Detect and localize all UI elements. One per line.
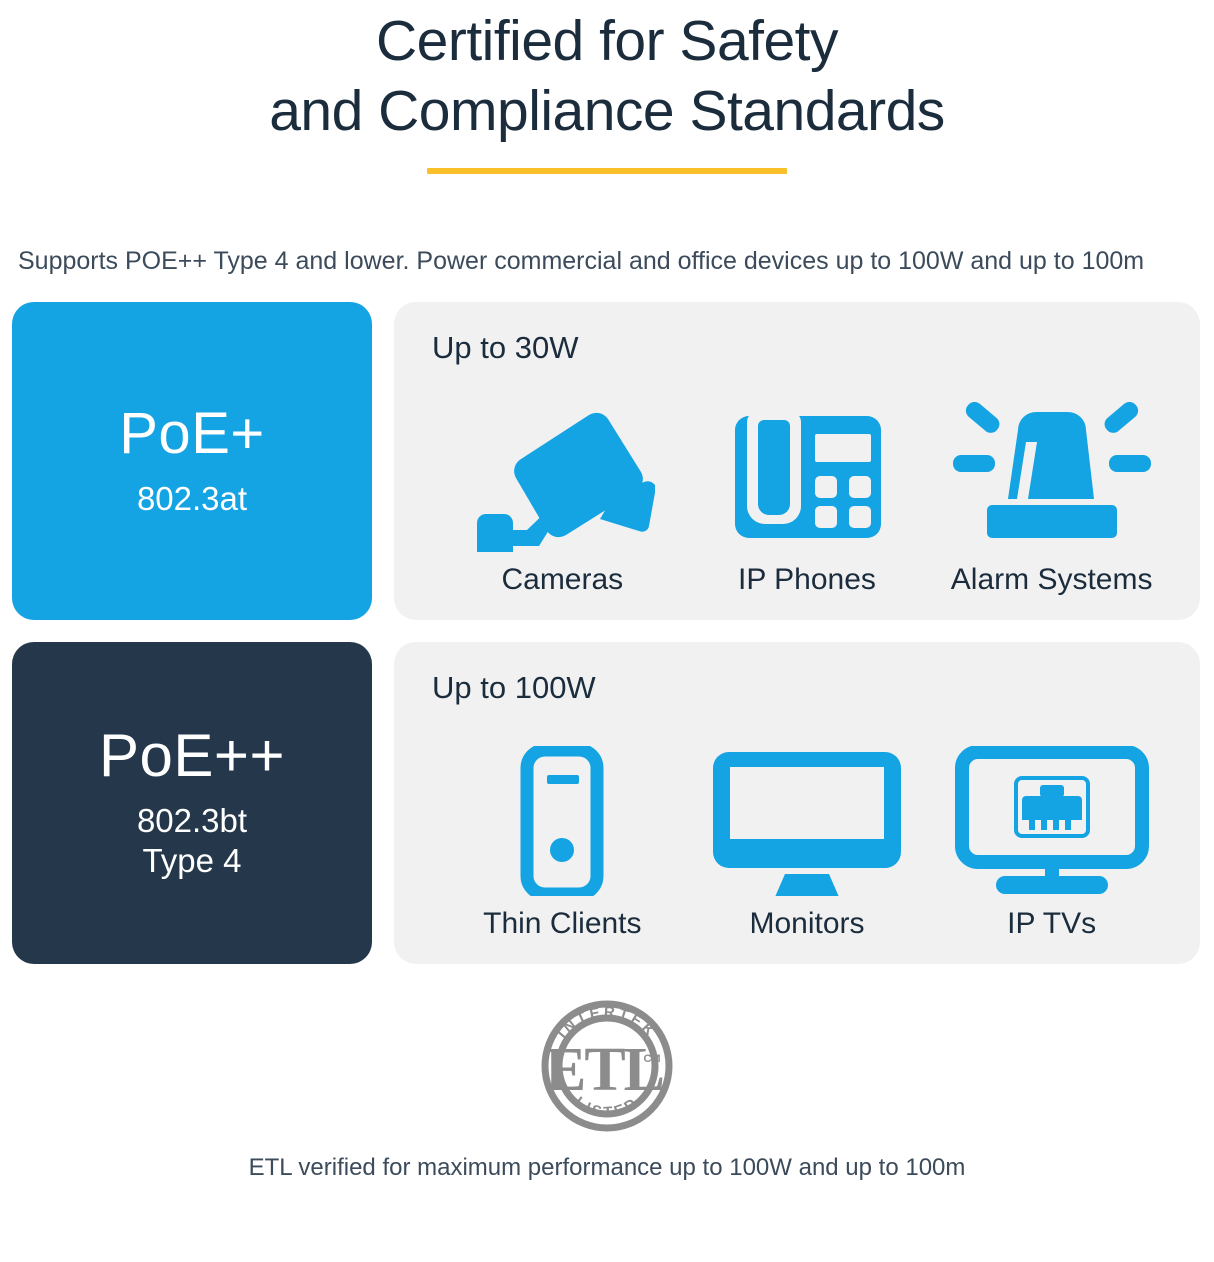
device-label-alarm-systems: Alarm Systems (951, 562, 1153, 598)
security-camera-icon (469, 392, 655, 552)
poe-plusplus-badge-title: PoE++ (99, 725, 285, 787)
page-title-line-2: and Compliance Standards (0, 76, 1214, 146)
device-ip-tvs: IP TVs (931, 736, 1173, 942)
title-accent-rule (427, 168, 787, 174)
page-footer: INTERTEK LISTED ETL CM ETL verified for … (0, 990, 1214, 1183)
poe-plus-power-heading: Up to 30W (432, 330, 1182, 366)
poe-plus-badge-standard: 802.3at (137, 479, 247, 519)
device-alarm-systems: Alarm Systems (931, 392, 1173, 598)
poe-tier-row: PoE+ 802.3at Up to 30W (12, 302, 1200, 620)
etl-listed-intertek-logo: INTERTEK LISTED ETL CM (532, 990, 682, 1143)
poe-plusplus-power-heading: Up to 100W (432, 670, 1182, 706)
etl-logo-cm-mark: CM (643, 1053, 660, 1065)
device-monitors: Monitors (686, 736, 928, 942)
poe-plus-badge: PoE+ 802.3at (12, 302, 372, 620)
siren-beacon-icon (947, 392, 1157, 552)
etl-logo-center-text: ETL (545, 1036, 663, 1104)
device-label-ip-phones: IP Phones (738, 562, 876, 598)
poe-tier-grid: PoE+ 802.3at Up to 30W (0, 302, 1214, 964)
device-cameras: Cameras (441, 392, 683, 598)
device-label-thin-clients: Thin Clients (483, 906, 641, 942)
device-thin-clients: Thin Clients (441, 736, 683, 942)
poe-plus-badge-title: PoE+ (119, 403, 265, 465)
subtitle-text: Supports POE++ Type 4 and lower. Power c… (0, 246, 1214, 276)
poe-plusplus-standard-line-2: Type 4 (137, 841, 247, 881)
poe-plus-devices-panel: Up to 30W Cameras (394, 302, 1200, 620)
poe-plusplus-badge-standard: 802.3bt Type 4 (137, 801, 247, 881)
poe-plus-device-list: Cameras (432, 370, 1182, 602)
poe-plusplus-devices-panel: Up to 100W Thin Clients (394, 642, 1200, 964)
device-ip-phones: IP Phones (686, 392, 928, 598)
device-label-ip-tvs: IP TVs (1007, 906, 1096, 942)
monitor-icon (709, 736, 905, 896)
page-header: Certified for Safety and Compliance Stan… (0, 0, 1214, 174)
device-label-monitors: Monitors (749, 906, 864, 942)
ip-tv-rj45-icon (954, 736, 1150, 896)
poe-plusplus-standard-line-1: 802.3bt (137, 801, 247, 841)
desk-phone-icon (719, 392, 895, 552)
poe-plusplus-device-list: Thin Clients Monitors (432, 710, 1182, 946)
poe-tier-row: PoE++ 802.3bt Type 4 Up to 100W (12, 642, 1200, 964)
device-label-cameras: Cameras (501, 562, 623, 598)
thin-client-tower-icon (510, 736, 614, 896)
poe-plusplus-badge: PoE++ 802.3bt Type 4 (12, 642, 372, 964)
footer-note-text: ETL verified for maximum performance up … (249, 1153, 966, 1183)
page-title-line-1: Certified for Safety (0, 6, 1214, 76)
